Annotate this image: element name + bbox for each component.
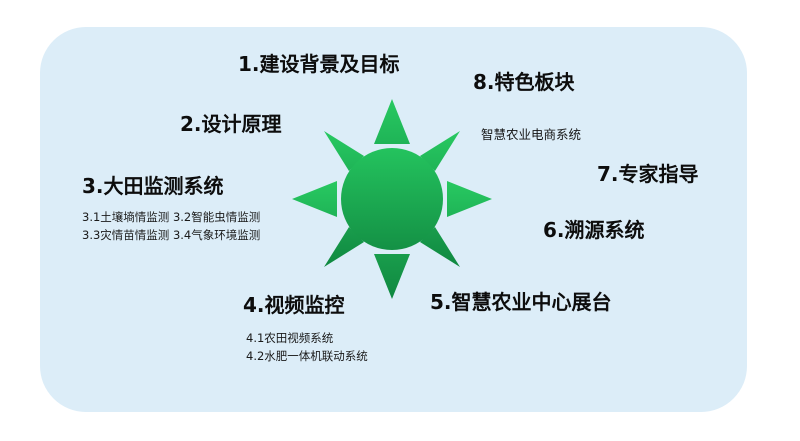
diagram-node-5[interactable]: 5.智慧农业中心展台 (430, 290, 612, 315)
diagram-node-8[interactable]: 8.特色板块 (473, 70, 575, 95)
diagram-node-4-subitem: 4.2水肥一体机联动系统 (246, 348, 368, 366)
diagram-node-2-title: 2.设计原理 (180, 112, 282, 137)
diagram-node-7-title: 7.专家指导 (597, 162, 699, 187)
diagram-node-8-title: 8.特色板块 (473, 70, 575, 95)
diagram-node-6-title: 6.溯源系统 (543, 218, 645, 243)
diagram-node-4-subitem: 4.1农田视频系统 (246, 330, 368, 348)
diagram-node-1[interactable]: 1.建设背景及目标 (238, 52, 400, 77)
diagram-node-1-title: 1.建设背景及目标 (238, 52, 400, 77)
diagram-node-2[interactable]: 2.设计原理 (180, 112, 282, 137)
diagram-node-3[interactable]: 3.大田监测系统 3.1土壤墒情监测 3.2智能虫情监测 3.3灾情苗情监测 3… (82, 174, 260, 245)
diagram-node-3-subitem: 3.1土壤墒情监测 3.2智能虫情监测 (82, 209, 260, 227)
diagram-node-8-subitem: 智慧农业电商系统 (481, 124, 581, 143)
diagram-node-4[interactable]: 4.视频监控 4.1农田视频系统 4.2水肥一体机联动系统 (243, 293, 368, 366)
diagram-node-4-subitems: 4.1农田视频系统 4.2水肥一体机联动系统 (246, 330, 368, 366)
diagram-node-3-title: 3.大田监测系统 (82, 174, 260, 199)
diagram-node-3-subitem: 3.3灾情苗情监测 3.4气象环境监测 (82, 227, 260, 245)
diagram-node-6[interactable]: 6.溯源系统 (543, 218, 645, 243)
diagram-node-4-title: 4.视频监控 (243, 293, 368, 318)
diagram-node-7[interactable]: 7.专家指导 (597, 162, 699, 187)
diagram-node-3-subitems: 3.1土壤墒情监测 3.2智能虫情监测 3.3灾情苗情监测 3.4气象环境监测 (82, 209, 260, 245)
diagram-node-5-title: 5.智慧农业中心展台 (430, 290, 612, 315)
sun-burst-icon (292, 99, 492, 299)
